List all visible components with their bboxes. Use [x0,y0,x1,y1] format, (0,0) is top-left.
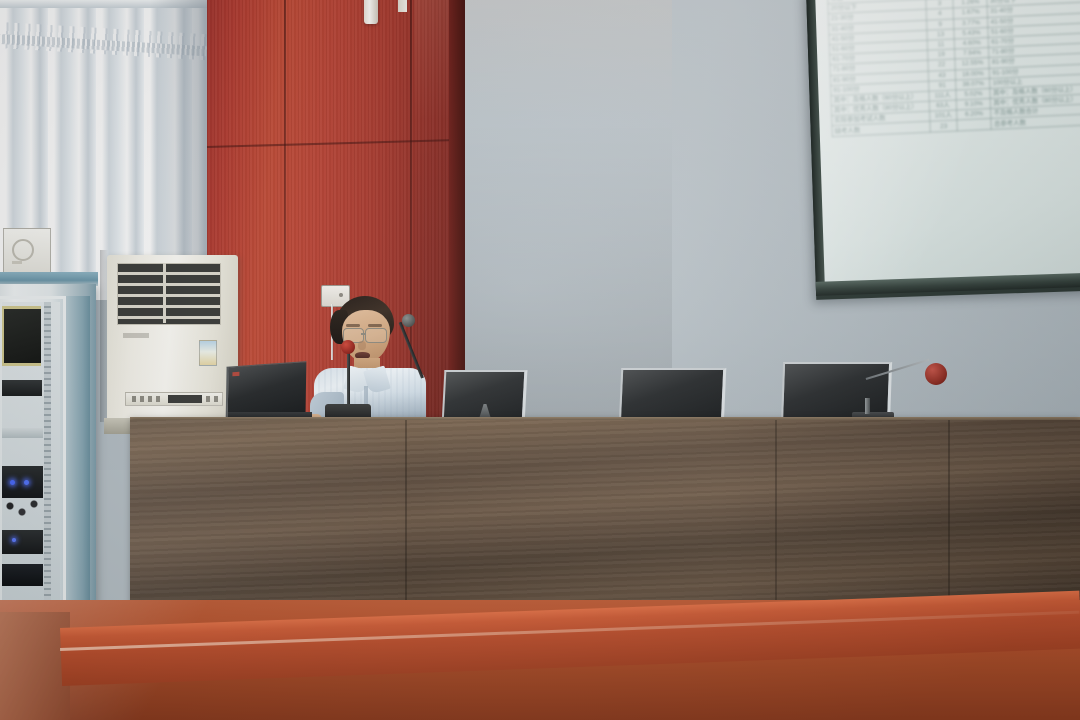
rack-cable-bundle [2,498,42,520]
table-cell [957,119,991,131]
rack-mounting-rail [44,302,51,608]
ceiling-fixture-secondary-icon [398,0,407,12]
microphone-windscreen-red [925,363,947,385]
rack-device-3 [2,530,43,554]
wall-outlet-slot [12,261,22,264]
speaker-eyebrow-left [346,324,360,327]
equipment-rack-side-panel [66,296,90,614]
air-conditioner-brand-mark [123,333,149,338]
air-conditioner-button[interactable] [156,396,160,402]
rack-device-1 [2,380,42,396]
air-conditioner-grille [117,263,221,325]
rack-device-4 [2,564,43,586]
rack-led-indicator [12,538,16,542]
wall-outlet-plate[interactable] [3,228,51,276]
laptop-logo-icon [232,372,239,377]
rack-amplifier [2,466,43,498]
air-conditioner-button[interactable] [140,396,144,402]
air-conditioner [107,255,238,420]
air-conditioner-button[interactable] [214,396,218,402]
air-conditioner-display [168,395,202,403]
equipment-rack-glass-door[interactable] [0,296,66,614]
rack-led-indicator [24,480,29,485]
equipment-rack-interior [2,302,60,608]
photo-scene: 项目人数比例项目人数比例20分以下31.26%30分以下62.53%21-30分… [0,0,1080,720]
microphone-mount [865,398,870,414]
glasses-bridge [361,333,366,335]
air-conditioner-grille-divider [163,263,166,323]
rack-led-indicator [10,480,15,485]
equipment-rack [0,284,96,628]
glasses-lens-right [365,328,387,343]
air-conditioner-label-sticker [199,340,217,366]
ceiling-fixture-icon [364,0,378,24]
microphone-windscreen-red [341,340,355,354]
rack-device-2 [2,428,43,438]
rack-monitor [2,306,41,366]
projected-statistics-table: 项目人数比例项目人数比例20分以下31.26%30分以下62.53%21-30分… [827,0,1080,137]
projection-screen-surface: 项目人数比例项目人数比例20分以下31.26%30分以下62.53%21-30分… [813,0,1080,284]
air-conditioner-button[interactable] [206,396,210,402]
speaker-eyebrow-right [368,324,382,327]
table-cell: 23 [930,120,958,131]
microphone-gooseneck [347,348,350,406]
air-conditioner-button[interactable] [148,396,152,402]
red-panel-corner-edge [449,0,465,430]
speaker-nose [358,341,366,350]
air-conditioner-control-panel[interactable] [125,392,223,406]
microphone-capsule [402,314,415,327]
air-conditioner-button[interactable] [132,396,136,402]
projection-screen: 项目人数比例项目人数比例20分以下31.26%30分以下62.53%21-30分… [806,0,1080,300]
